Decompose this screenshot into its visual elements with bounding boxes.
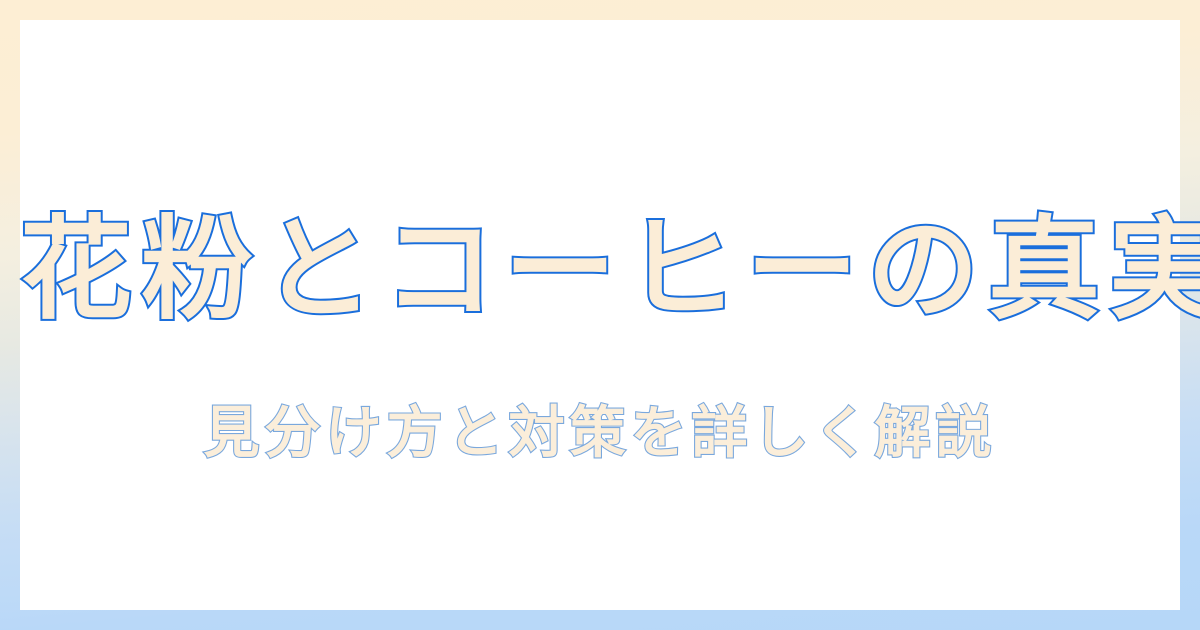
banner-card: 花粉とコーヒーの真実 見分け方と対策を詳しく解説 [20, 20, 1180, 610]
title-block: 花粉とコーヒーの真実 [20, 206, 1180, 335]
subtitle-block: 見分け方と対策を詳しく解説 [20, 400, 1180, 467]
banner-title: 花粉とコーヒーの真実 [20, 206, 1200, 335]
banner-subtitle: 見分け方と対策を詳しく解説 [204, 400, 997, 467]
banner-frame: 花粉とコーヒーの真実 見分け方と対策を詳しく解説 [0, 0, 1200, 630]
